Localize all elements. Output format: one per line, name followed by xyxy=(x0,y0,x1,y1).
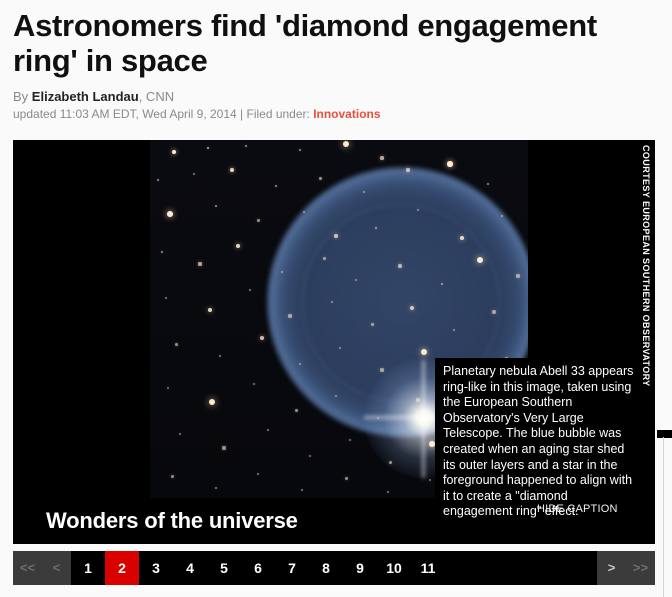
star xyxy=(429,441,435,447)
page-number-list: 1234567891011 xyxy=(71,551,445,585)
byline: By Elizabeth Landau, CNN xyxy=(13,89,653,104)
page-number-4[interactable]: 4 xyxy=(173,551,207,585)
star xyxy=(295,409,298,412)
star xyxy=(222,446,225,449)
hide-caption-button[interactable]: HIDE CAPTION xyxy=(537,503,618,515)
page-number-7[interactable]: 7 xyxy=(275,551,309,585)
diamond-star-spike-vertical xyxy=(422,360,425,478)
star xyxy=(371,323,374,326)
pagination-right-controls: > >> xyxy=(597,551,655,585)
star xyxy=(406,168,409,171)
updated-timestamp: updated 11:03 AM EDT, Wed April 9, 2014 … xyxy=(13,107,313,121)
last-page-button[interactable]: >> xyxy=(626,551,655,585)
star xyxy=(319,177,322,180)
star xyxy=(257,219,260,222)
star xyxy=(421,349,427,355)
page-number-10[interactable]: 10 xyxy=(377,551,411,585)
star xyxy=(230,168,234,172)
star xyxy=(171,475,174,478)
page-number-6[interactable]: 6 xyxy=(241,551,275,585)
caption-text: Planetary nebula Abell 33 appears ring-l… xyxy=(443,364,635,520)
star xyxy=(198,262,201,265)
page-number-2[interactable]: 2 xyxy=(105,551,139,585)
gallery-stage: Planetary nebula Abell 33 appears ring-l… xyxy=(13,140,655,544)
first-page-button[interactable]: << xyxy=(13,551,42,585)
gallery-title: Wonders of the universe xyxy=(46,508,298,534)
gallery-pagination: << < 1234567891011 > >> xyxy=(13,551,655,585)
star xyxy=(167,211,173,217)
star xyxy=(288,314,291,317)
star xyxy=(380,156,383,159)
page-number-8[interactable]: 8 xyxy=(309,551,343,585)
byline-prefix: By xyxy=(13,89,32,104)
star xyxy=(447,161,452,166)
page-number-1[interactable]: 1 xyxy=(71,551,105,585)
star xyxy=(345,477,348,480)
page-number-9[interactable]: 9 xyxy=(343,551,377,585)
filed-under-link[interactable]: Innovations xyxy=(313,107,380,121)
star xyxy=(416,398,419,401)
star xyxy=(516,274,519,277)
byline-author[interactable]: Elizabeth Landau xyxy=(32,89,139,104)
star xyxy=(410,306,414,310)
caption-panel: Planetary nebula Abell 33 appears ring-l… xyxy=(435,358,642,506)
article-meta: updated 11:03 AM EDT, Wed April 9, 2014 … xyxy=(13,107,653,121)
star xyxy=(380,368,383,371)
star xyxy=(260,336,264,340)
star xyxy=(389,461,392,464)
right-edge-divider xyxy=(663,437,664,597)
page-title: Astronomers find 'diamond engagement rin… xyxy=(13,0,653,78)
next-page-button[interactable]: > xyxy=(597,551,626,585)
pagination-left-controls: << < xyxy=(13,551,71,585)
page-number-5[interactable]: 5 xyxy=(207,551,241,585)
star xyxy=(323,257,326,260)
page-number-11[interactable]: 11 xyxy=(411,551,445,585)
article-header: Astronomers find 'diamond engagement rin… xyxy=(13,0,653,121)
star xyxy=(398,264,402,268)
star xyxy=(334,234,338,238)
star xyxy=(492,310,495,313)
byline-outlet: , CNN xyxy=(139,89,174,104)
right-edge-black-bar xyxy=(657,430,672,438)
star xyxy=(175,343,178,346)
photo-credit: COURTESY EUROPEAN SOUTHERN OBSERVATORY xyxy=(641,145,651,387)
prev-page-button[interactable]: < xyxy=(42,551,71,585)
page-number-3[interactable]: 3 xyxy=(139,551,173,585)
